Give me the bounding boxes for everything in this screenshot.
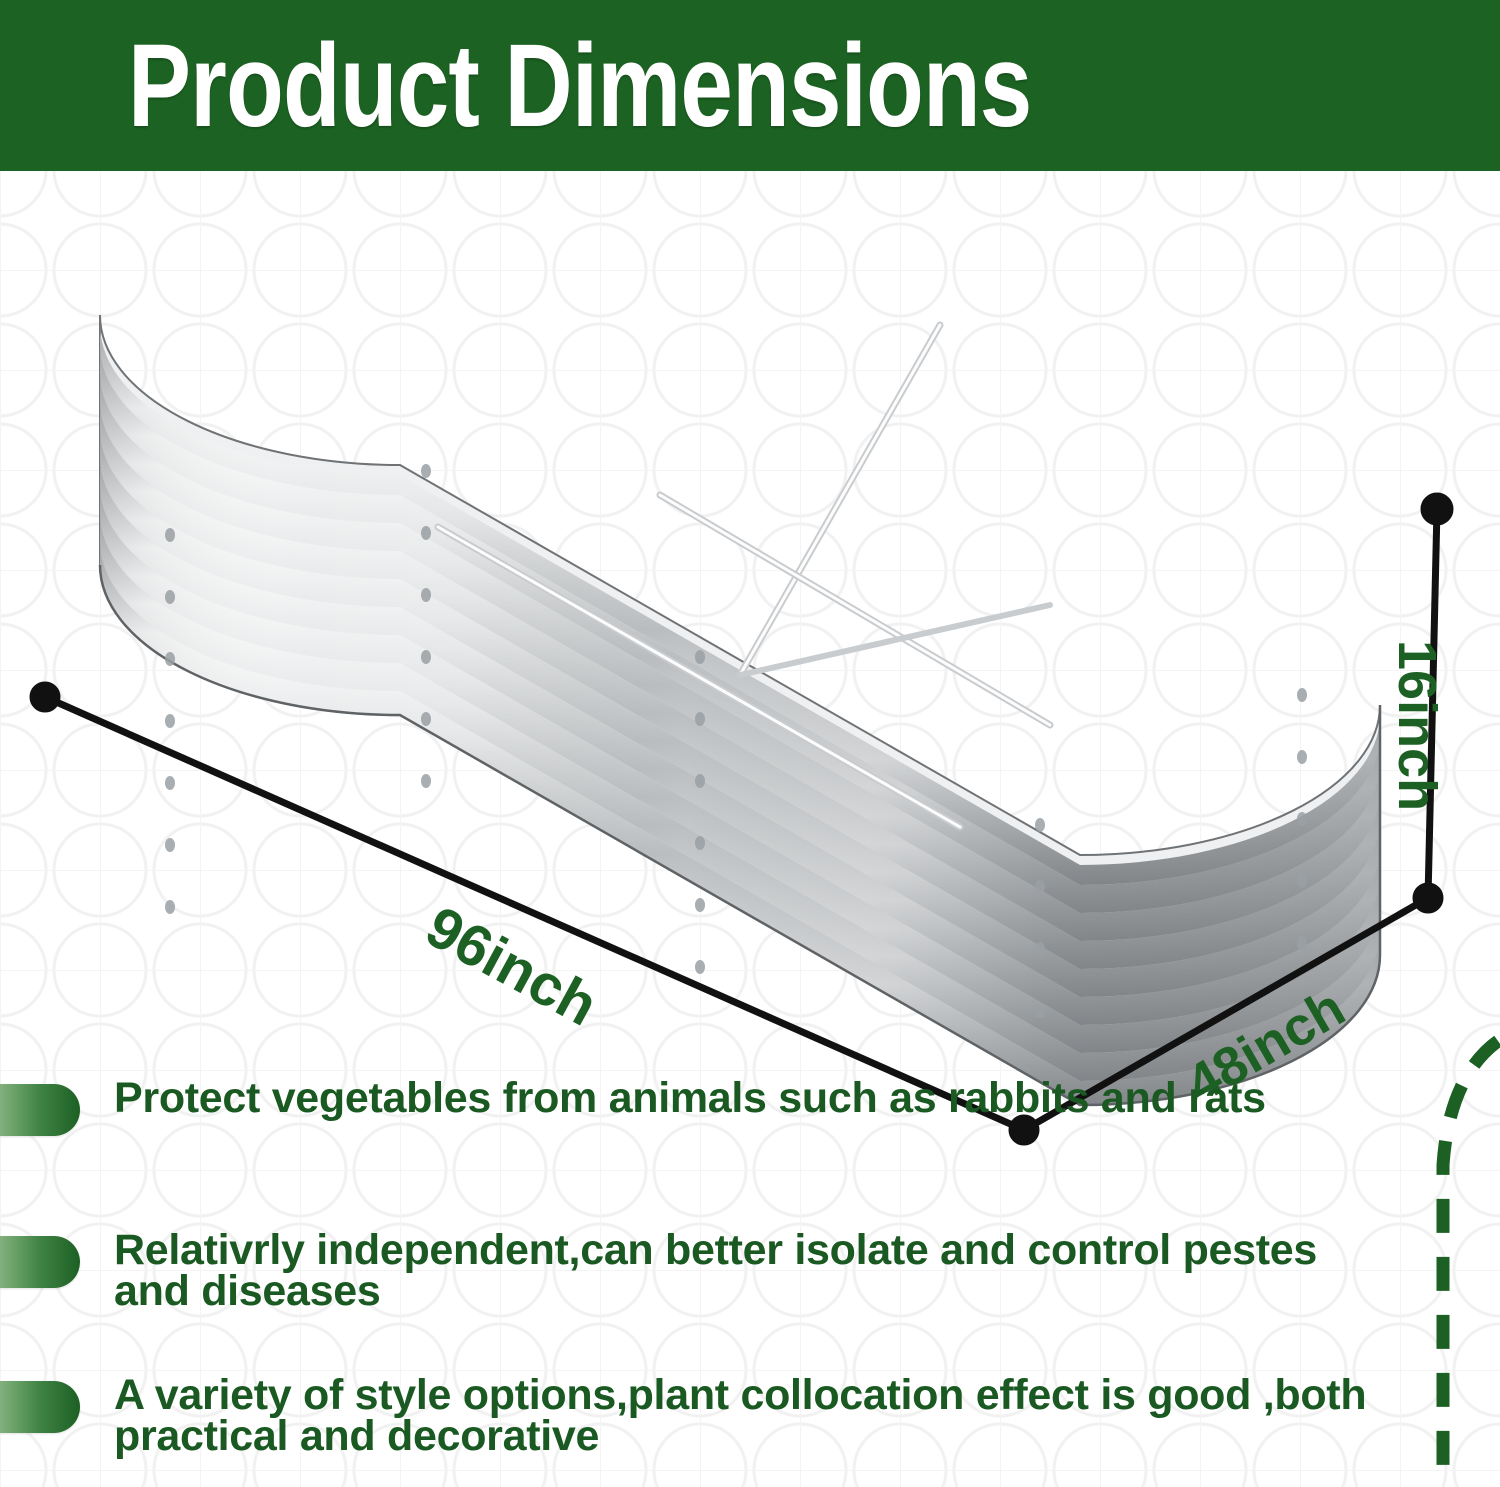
decorative-dashed-arc — [1395, 1035, 1500, 1487]
bullet-pill-icon — [0, 1084, 80, 1136]
page-title: Product Dimensions — [128, 27, 1032, 145]
header-banner: Product Dimensions — [0, 0, 1500, 171]
feature-text: Protect vegetables from animals such as … — [114, 1078, 1266, 1119]
feature-item: Relativrly independent,can better isolat… — [0, 1230, 1420, 1313]
bullet-pill-icon — [0, 1381, 80, 1433]
bullet-pill-icon — [0, 1236, 80, 1288]
feature-text: A variety of style options,plant colloca… — [114, 1375, 1404, 1458]
feature-text: Relativrly independent,can better isolat… — [114, 1230, 1404, 1313]
infographic-canvas: Product Dimensions — [0, 0, 1500, 1487]
feature-item: A variety of style options,plant colloca… — [0, 1375, 1420, 1458]
product-illustration-garden-bed — [40, 205, 1440, 1135]
dimension-label-height: 16inch — [1386, 640, 1448, 811]
feature-item: Protect vegetables from animals such as … — [0, 1078, 1420, 1136]
